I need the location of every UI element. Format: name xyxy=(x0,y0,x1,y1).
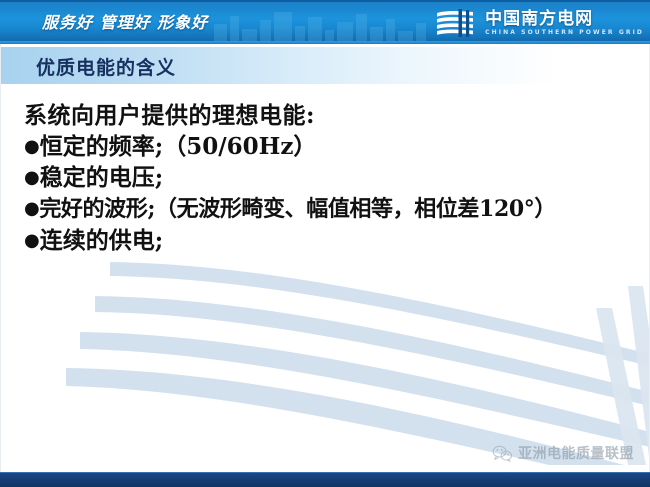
power-grid-emblem-icon xyxy=(435,8,479,38)
bullet-item-3: ●完好的波形;（无波形畸变、幅值相等，相位差120°） xyxy=(24,193,650,225)
page-title: 优质电能的含义 xyxy=(36,53,176,80)
header-top-rule xyxy=(0,0,650,2)
bullet-item-3-label: 完好的波形;（无波形畸变、幅值相等，相位差120°） xyxy=(39,196,556,222)
bullet-item-1: ●恒定的频率;（50/60Hz） xyxy=(24,131,650,162)
bullet-item-2-label: 稳定的电压; xyxy=(40,164,164,191)
bullet-glyph-icon: ● xyxy=(24,136,40,157)
body-lead-line: 系统向用户提供的理想电能: xyxy=(24,100,650,131)
brand-name-en: CHINA SOUTHERN POWER GRID xyxy=(485,30,644,36)
slide-header: 服务好 管理好 形象好 中国南方电网 CHINA SOUTHERN POWER … xyxy=(0,0,650,44)
bullet-glyph-icon: ● xyxy=(24,167,40,188)
footer-bar xyxy=(0,472,650,487)
header-bottom-rule xyxy=(0,41,650,44)
watermark-label: 亚洲电能质量联盟 xyxy=(518,443,634,463)
wechat-icon xyxy=(492,445,513,462)
bullet-glyph-icon: ● xyxy=(24,230,40,251)
brand-logo: 中国南方电网 CHINA SOUTHERN POWER GRID xyxy=(435,4,644,42)
header-slogan: 服务好 管理好 形象好 xyxy=(42,9,208,33)
slide-canvas: 服务好 管理好 形象好 中国南方电网 CHINA SOUTHERN POWER … xyxy=(0,0,650,487)
slide-body: 系统向用户提供的理想电能: ●恒定的频率;（50/60Hz） ●稳定的电压; ●… xyxy=(24,100,650,256)
page-edge-left xyxy=(0,44,1,472)
bullet-item-1-label: 恒定的频率;（50/60Hz） xyxy=(40,133,317,160)
bullet-glyph-icon: ● xyxy=(24,198,39,219)
bullet-item-4: ●连续的供电; xyxy=(24,225,650,256)
brand-name-cn: 中国南方电网 xyxy=(485,11,644,28)
brand-logo-text: 中国南方电网 CHINA SOUTHERN POWER GRID xyxy=(485,11,644,36)
grid-emblem-watermark-icon xyxy=(0,250,650,465)
bullet-item-2: ●稳定的电压; xyxy=(24,162,650,193)
cityscape-silhouette-icon xyxy=(210,6,440,44)
footer-bar-highlight xyxy=(0,472,650,473)
bullet-item-4-label: 连续的供电; xyxy=(40,227,164,254)
watermark: 亚洲电能质量联盟 xyxy=(492,443,634,463)
